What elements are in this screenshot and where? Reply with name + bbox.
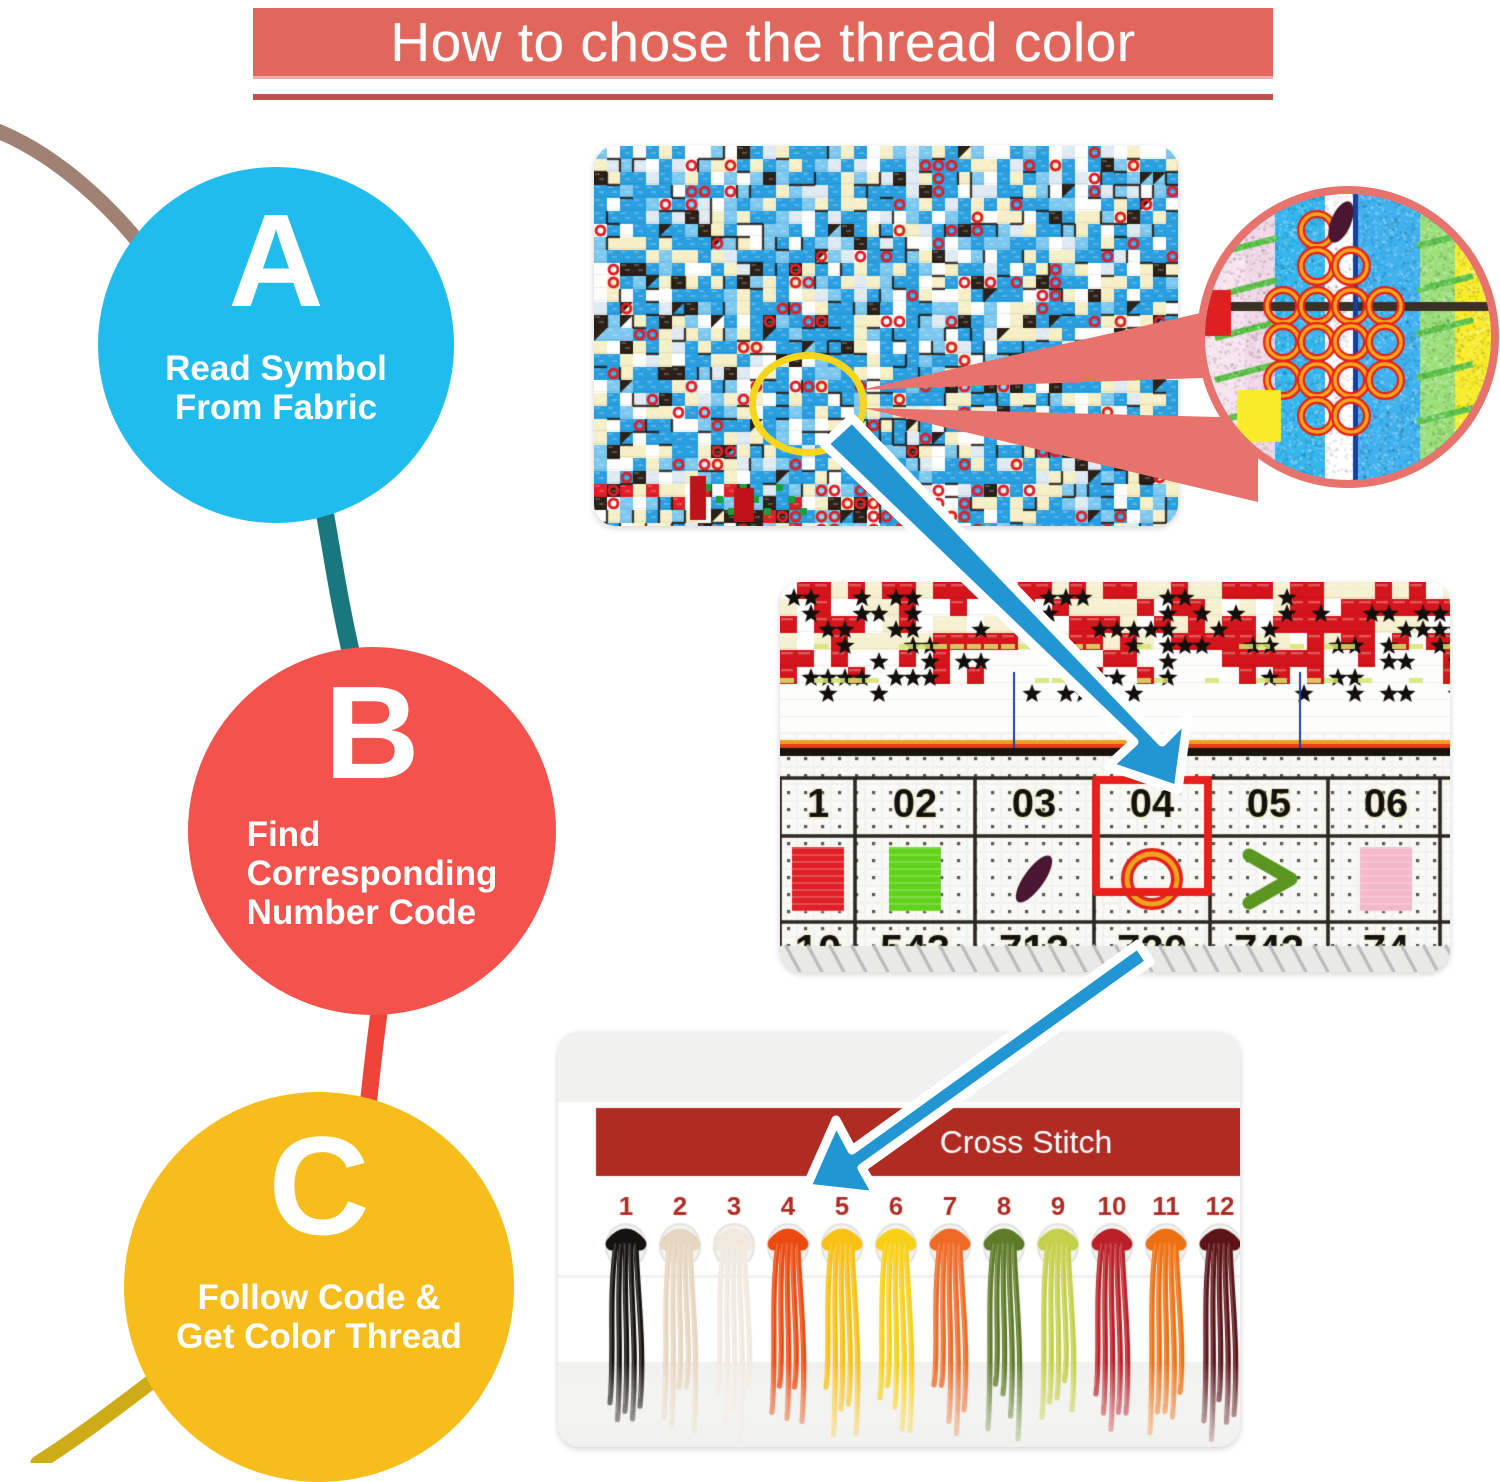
step-a-description: Read Symbol From Fabric	[165, 349, 387, 427]
step-circle-b[interactable]: B Find Corresponding Number Code	[188, 647, 556, 1015]
thread-sample-image	[558, 1032, 1240, 1447]
page-title-banner: How to chose the thread color	[253, 8, 1273, 76]
step-c-description: Follow Code & Get Color Thread	[176, 1278, 462, 1356]
step-circle-a[interactable]: A Read Symbol From Fabric	[98, 167, 454, 523]
magnified-stitch-image	[1205, 194, 1491, 480]
page-title: How to chose the thread color	[390, 10, 1135, 74]
fabric-highlight-circle	[749, 352, 867, 456]
step-b-description: Find Corresponding Number Code	[247, 815, 498, 933]
title-underline-rule	[253, 92, 1273, 102]
step-circle-c[interactable]: C Follow Code & Get Color Thread	[124, 1092, 514, 1482]
step-c-letter: C	[268, 1116, 369, 1256]
symbol-code-chart-image	[780, 582, 1450, 972]
thread-sample-card[interactable]	[558, 1032, 1240, 1447]
step-a-letter: A	[228, 195, 323, 327]
symbol-code-chart-card[interactable]	[780, 582, 1450, 972]
magnifier-lens[interactable]	[1197, 186, 1499, 488]
step-b-letter: B	[324, 667, 419, 799]
